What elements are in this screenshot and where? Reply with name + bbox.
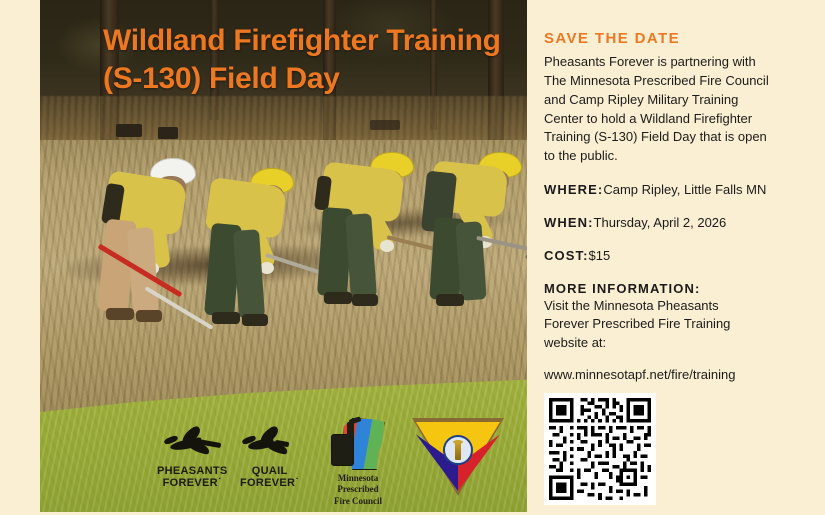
- pheasant-bird-icon: [164, 430, 220, 460]
- logo-mn-prescribed-fire-council: Minnesota Prescribed Fire Council: [320, 418, 396, 507]
- boot: [106, 308, 134, 320]
- boot: [352, 294, 378, 306]
- detail-when-label: WHEN:: [544, 215, 594, 230]
- details-sidebar: SAVE THE DATE Pheasants Forever is partn…: [544, 0, 814, 515]
- pf-line2: FOREVER˙: [157, 477, 228, 489]
- minnesota-drip-torch-icon: [331, 418, 385, 470]
- camp-ripley-triangle-patch-icon: [412, 418, 504, 496]
- qf-line2: FOREVER˙: [240, 477, 299, 489]
- mnfc-line1: Minnesota: [320, 473, 396, 484]
- log-debris: [158, 127, 178, 139]
- firefighter-4: [412, 152, 527, 342]
- mnfc-line2: Prescribed: [320, 484, 396, 495]
- page-title-line2: (S-130) Field Day: [103, 60, 527, 98]
- boot: [212, 312, 240, 324]
- more-information-body: Visit the Minnesota Pheasants Forever Pr…: [544, 297, 759, 354]
- boot: [324, 292, 352, 304]
- intro-paragraph: Pheasants Forever is partnering with The…: [544, 53, 776, 166]
- detail-where: WHERE:Camp Ripley, Little Falls MN: [544, 181, 814, 199]
- boot: [136, 310, 162, 322]
- detail-where-label: WHERE:: [544, 182, 603, 197]
- log-debris: [116, 124, 142, 137]
- hand-tool-blade: [525, 249, 527, 268]
- detail-cost: COST:$15: [544, 247, 814, 265]
- boot: [436, 294, 464, 306]
- detail-when: WHEN:Thursday, April 2, 2026: [544, 214, 814, 232]
- log-debris: [370, 120, 400, 130]
- training-website-url[interactable]: www.minnesotapf.net/fire/training: [544, 367, 814, 382]
- save-the-date-heading: SAVE THE DATE: [544, 30, 814, 47]
- detail-cost-label: COST:: [544, 248, 589, 263]
- page-title-line1: Wildland Firefighter Training: [103, 22, 527, 60]
- qr-code-image: [549, 398, 651, 500]
- detail-where-value: Camp Ripley, Little Falls MN: [603, 182, 766, 197]
- quail-bird-icon: [242, 430, 298, 460]
- logo-quail-forever: QUAIL FOREVER˙: [240, 430, 299, 490]
- logo-pheasants-forever: PHEASANTS FOREVER˙: [157, 430, 228, 490]
- qr-code[interactable]: [544, 393, 656, 505]
- page-title: Wildland Firefighter Training (S-130) Fi…: [103, 22, 527, 98]
- pf-line1: PHEASANTS: [157, 465, 228, 477]
- qf-line1: QUAIL: [240, 465, 299, 477]
- detail-cost-value: $15: [589, 248, 611, 263]
- glove: [260, 262, 274, 274]
- logo-camp-ripley: [412, 418, 504, 496]
- boot: [242, 314, 268, 326]
- leg: [455, 221, 486, 301]
- detail-when-value: Thursday, April 2, 2026: [594, 215, 727, 230]
- more-information-heading: MORE INFORMATION:: [544, 281, 814, 296]
- camp-ripley-seal-icon: [443, 435, 473, 465]
- poster-flyer: PHEASANTS FOREVER˙ QUAIL FOREVER˙ Minnes…: [0, 0, 825, 515]
- event-photo: PHEASANTS FOREVER˙ QUAIL FOREVER˙ Minnes…: [40, 0, 527, 512]
- mnfc-line3: Fire Council: [320, 496, 396, 507]
- glove: [380, 240, 394, 252]
